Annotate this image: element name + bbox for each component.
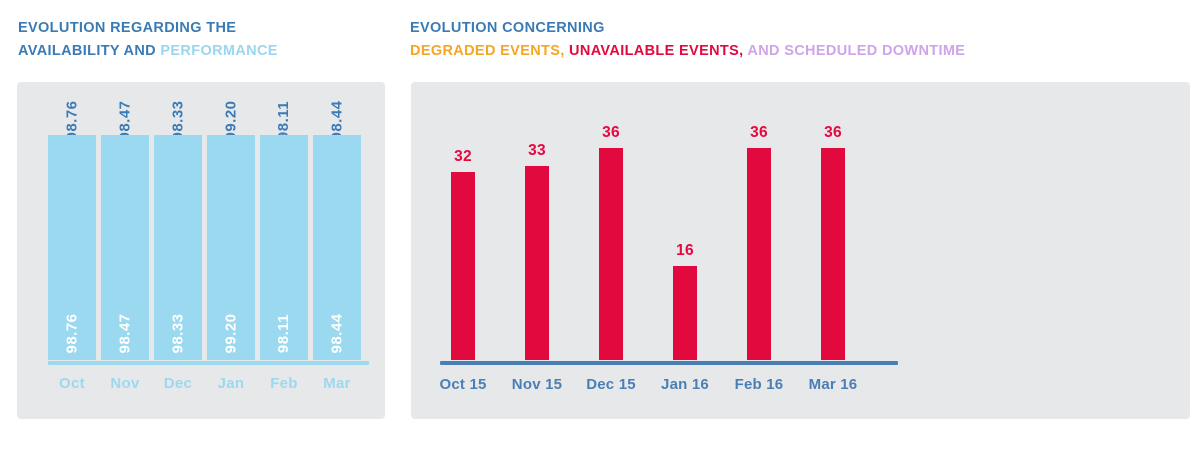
x-label-dec: Dec — [154, 375, 202, 392]
right-title-unavailable-text: UNAVAILABLE EVENTS, — [569, 43, 743, 59]
left-chart-title: EVOLUTION REGARDING THE AVAILABILITY AND… — [18, 17, 278, 63]
left-title-availability-text: AVAILABILITY AND — [18, 43, 156, 59]
event-x-label-feb16: Feb 16 — [722, 376, 796, 393]
x-label-oct: Oct — [48, 375, 96, 392]
availability-x-axis-line — [48, 361, 369, 365]
right-title-line2: DEGRADED EVENTS, UNAVAILABLE EVENTS, AND… — [410, 40, 965, 63]
event-bar-mar16[interactable] — [821, 148, 845, 360]
right-title-line1-text: EVOLUTION CONCERNING — [410, 20, 605, 36]
right-title-degraded-text: DEGRADED EVENTS, — [410, 43, 565, 59]
event-bar-feb16[interactable] — [747, 148, 771, 360]
bar-top-value-oct: 98.76 — [48, 112, 96, 129]
bar-inner-value-nov: 98.47 — [101, 325, 149, 342]
bar-inner-value-mar: 98.44 — [313, 325, 361, 342]
right-title-scheduled-text: AND SCHEDULED DOWNTIME — [747, 43, 965, 59]
left-title-line1: EVOLUTION REGARDING THE — [18, 17, 278, 40]
event-x-label-mar16: Mar 16 — [796, 376, 870, 393]
event-bar-value-dec15: 36 — [588, 124, 634, 142]
x-label-mar: Mar — [313, 375, 361, 392]
bar-inner-value-jan: 99.20 — [207, 325, 255, 342]
event-bar-value-nov15: 33 — [514, 142, 560, 160]
bar-inner-value-feb: 98.11 — [260, 325, 308, 342]
bar-top-value-dec: 98.33 — [154, 112, 202, 129]
event-bar-nov15[interactable] — [525, 166, 549, 360]
bar-top-value-mar: 98.44 — [313, 112, 361, 129]
event-x-label-oct15: Oct 15 — [426, 376, 500, 393]
bar-top-value-nov: 98.47 — [101, 112, 149, 129]
right-title-line1: EVOLUTION CONCERNING — [410, 17, 965, 40]
bar-inner-value-oct: 98.76 — [48, 325, 96, 342]
bar-top-value-jan: 99.20 — [207, 112, 255, 129]
x-label-feb: Feb — [260, 375, 308, 392]
left-title-line2: AVAILABILITY AND PERFORMANCE — [18, 40, 278, 63]
event-bar-value-oct15: 32 — [440, 148, 486, 166]
bar-top-value-feb: 98.11 — [260, 112, 308, 129]
event-x-label-nov15: Nov 15 — [500, 376, 574, 393]
event-bar-value-feb16: 36 — [736, 124, 782, 142]
event-bar-jan16[interactable] — [673, 266, 697, 360]
bar-inner-value-dec: 98.33 — [154, 325, 202, 342]
left-title-line1-text: EVOLUTION REGARDING THE — [18, 20, 236, 36]
event-bar-oct15[interactable] — [451, 172, 475, 360]
event-x-label-jan16: Jan 16 — [648, 376, 722, 393]
x-label-nov: Nov — [101, 375, 149, 392]
events-bar-chart: 32 33 36 16 36 36 Oct 15 Nov 15 Dec 15 J… — [440, 96, 1180, 406]
event-x-label-dec15: Dec 15 — [574, 376, 648, 393]
availability-bar-chart: 98.76 98.76 98.47 98.47 98.33 98.33 99.2… — [48, 96, 388, 406]
availability-chart-panel: 98.76 98.76 98.47 98.47 98.33 98.33 99.2… — [17, 82, 385, 419]
right-chart-title: EVOLUTION CONCERNING DEGRADED EVENTS, UN… — [410, 17, 965, 63]
events-chart-panel: 32 33 36 16 36 36 Oct 15 Nov 15 Dec 15 J… — [411, 82, 1190, 419]
event-bar-dec15[interactable] — [599, 148, 623, 360]
event-bar-value-jan16: 16 — [662, 242, 708, 260]
x-label-jan: Jan — [207, 375, 255, 392]
events-x-axis-line — [440, 361, 898, 365]
event-bar-value-mar16: 36 — [810, 124, 856, 142]
left-title-performance-text: PERFORMANCE — [160, 43, 277, 59]
